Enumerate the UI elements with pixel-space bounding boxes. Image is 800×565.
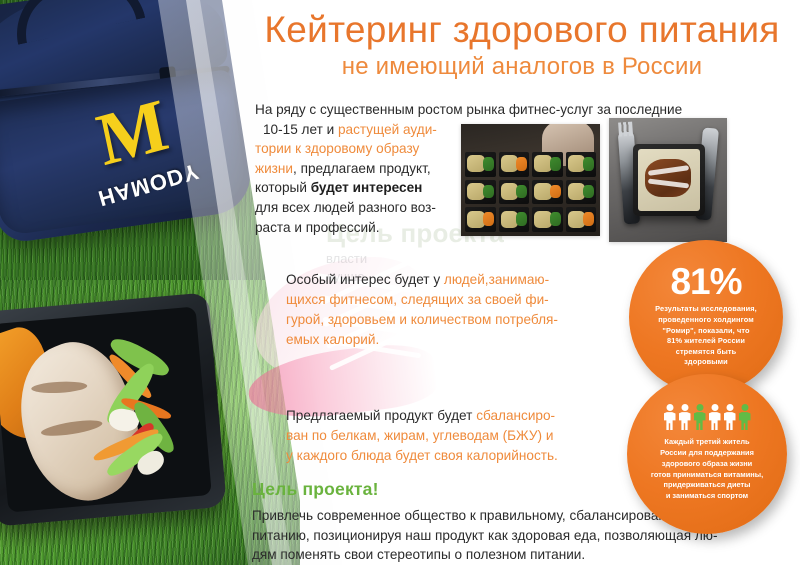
stat-caption-line: и заниматься спортом (634, 491, 780, 502)
stat-81-caption: Результаты исследования, проведенного хо… (638, 304, 774, 368)
paragraph-1-rest-5: для всех людей разного воз- (255, 198, 487, 218)
paragraph-3-line-3: у каждого блюда будет своя калорийность. (286, 446, 608, 466)
paragraph-2-line-4: емых калорий. (286, 330, 600, 350)
stat-caption-line: здорового образа жизни (634, 459, 780, 470)
page-subtitle: не имеющий аналогов в России (248, 53, 796, 81)
paragraph-1-rest: 10-15 лет и растущей ауди- (255, 120, 487, 140)
paragraph-1-rest-3: жизни, предлагаем продукт, (255, 159, 487, 179)
slide-header: Кейтеринг здорового питания не имеющий а… (248, 10, 796, 80)
stat-81-caption-line: проведенного холдингом (638, 315, 774, 326)
page-title: Кейтеринг здорового питания (248, 10, 796, 51)
p1-seg-e: , предлагаем продукт, (293, 161, 431, 176)
tray-inner (0, 306, 212, 512)
p2-seg-a: Особый интерес будет у (286, 272, 444, 287)
goal-section-title: Цель проекта! (252, 479, 379, 500)
stat-every-third-caption: Каждый третий житель России для поддержа… (634, 437, 780, 502)
stat-value-81: 81% (670, 264, 741, 300)
p1-seg-f: который (255, 180, 311, 195)
p1-seg-a: 10-15 лет и (263, 122, 338, 137)
tray-shell (0, 292, 227, 526)
stat-circle-every-third: Каждый третий житель России для поддержа… (627, 374, 787, 534)
person-icon-green (739, 404, 751, 430)
paragraph-2: Особый интерес будет у людей,занимаю- щи… (286, 270, 600, 350)
paragraph-2-line-3: гурой, здоровьем и количеством потребля- (286, 310, 600, 330)
p1-seg-b: растущей ауди- (338, 122, 437, 137)
person-icon (664, 404, 676, 430)
stat-caption-line: России для поддержания (634, 448, 780, 459)
paragraph-3: Предлагаемый продукт будет сбалансиро- в… (286, 406, 608, 466)
stat-circle-81-percent: 81% Результаты исследования, проведенног… (629, 240, 783, 394)
paragraph-1-rest-6: раста и профессий. (255, 218, 487, 238)
paragraph-2-line-1: Особый интерес будет у людей,занимаю- (286, 270, 600, 290)
paragraph-2-line-2: щихся фитнесом, следящих за своей фи- (286, 290, 600, 310)
p1-seg-g: будет интересен (311, 180, 423, 195)
person-icon (679, 404, 691, 430)
person-icon-green (694, 404, 706, 430)
paragraph-1-line-1: На ряду с существенным ростом рынка фитн… (255, 100, 747, 120)
p2-seg-b: людей,занимаю- (444, 272, 549, 287)
paragraph-1-rest-2: тории к здоровому образу (255, 139, 487, 159)
stat-caption-line: придерживаться диеты (634, 480, 780, 491)
meal-tray (0, 292, 227, 526)
people-icon-row (664, 404, 751, 430)
goal-line-3: дям поменять свои стереотипы о полезном … (252, 545, 792, 565)
paragraph-3-line-1: Предлагаемый продукт будет сбалансиро- (286, 406, 608, 426)
stat-caption-line: готов приниматься витамины, (634, 470, 780, 481)
stat-81-caption-line: 81% жителей России (638, 336, 774, 347)
slide-root: M HAMODY (0, 0, 800, 565)
p1-seg-d: жизни (255, 161, 293, 176)
stat-81-caption-line: "Ромир", показали, что (638, 326, 774, 337)
bag-logo-letter: M (92, 96, 168, 172)
paragraph-3-line-2: ван по белкам, жирам, углеводам (БЖУ) и (286, 426, 608, 446)
person-icon (724, 404, 736, 430)
person-icon (709, 404, 721, 430)
p1-seg-c: тории к здоровому образу (255, 141, 419, 156)
stat-81-caption-line: Результаты исследования, (638, 304, 774, 315)
stat-81-caption-line: стремятся быть (638, 347, 774, 358)
p3-seg-b: сбалансиро- (476, 408, 555, 423)
paragraph-1-rest-4: который будет интересен (255, 178, 487, 198)
p3-seg-a: Предлагаемый продукт будет (286, 408, 476, 423)
paragraph-1: На ряду с существенным ростом рынка фитн… (255, 100, 747, 237)
stat-81-caption-line: здоровыми (638, 357, 774, 368)
stat-caption-line: Каждый третий житель (634, 437, 780, 448)
